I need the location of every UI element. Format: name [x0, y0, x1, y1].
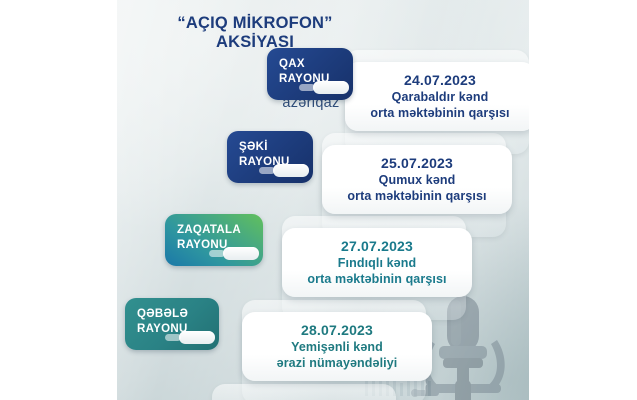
tag-connector	[273, 164, 309, 177]
event-place-line-1: Qarabaldır kənd	[355, 89, 525, 105]
detail-panel: 24.07.2023 Qarabaldır kənd orta məktəbin…	[345, 62, 529, 131]
event-place-line-2: orta məktəbinin qarşısı	[292, 271, 462, 287]
event-place-line-2: orta məktəbinin qarşısı	[355, 105, 525, 121]
panel-shadow-layer	[212, 384, 396, 400]
detail-panel: 28.07.2023 Yemişənli kənd ərazi nümayənd…	[242, 312, 432, 381]
detail-panel: 25.07.2023 Qumux kənd orta məktəbinin qa…	[322, 145, 512, 214]
tag-connector	[179, 331, 215, 344]
event-place-line-2: ərazi nümayəndəliyi	[252, 355, 422, 371]
district-tag[interactable]: ŞƏKİ RAYONU	[227, 131, 313, 183]
page-title: “AÇIQ MİKROFON” AKSİYASI	[130, 14, 380, 52]
event-place-line-1: Yemişənli kənd	[252, 339, 422, 355]
district-tag-line-1: ZAQATALA	[177, 224, 241, 236]
event-date: 28.07.2023	[252, 321, 422, 339]
event-place-line-2: orta məktəbinin qarşısı	[332, 188, 502, 204]
poster-canvas: “AÇIQ MİKROFON” AKSİYASI azəriqaz 11:	[117, 0, 529, 400]
event-date: 25.07.2023	[332, 154, 502, 172]
district-tag-line-1: ŞƏKİ	[239, 141, 268, 153]
district-tag-line-1: QƏBƏLƏ	[137, 308, 188, 320]
tag-connector	[313, 81, 349, 94]
tag-connector	[223, 247, 259, 260]
district-tag-line-1: QAX	[279, 58, 305, 70]
district-tag[interactable]: QƏBƏLƏ RAYONU	[125, 298, 219, 350]
event-date: 24.07.2023	[355, 71, 525, 89]
event-place-line-1: Qumux kənd	[332, 172, 502, 188]
district-tag[interactable]: QAX RAYONU	[267, 48, 353, 100]
title-line-1: “AÇIQ MİKROFON”	[177, 14, 332, 32]
detail-panel: 27.07.2023 Fındıqlı kənd orta məktəbinin…	[282, 228, 472, 297]
event-date: 27.07.2023	[292, 237, 462, 255]
event-place-line-1: Fındıqlı kənd	[292, 255, 462, 271]
district-tag[interactable]: ZAQATALA RAYONU	[165, 214, 263, 266]
